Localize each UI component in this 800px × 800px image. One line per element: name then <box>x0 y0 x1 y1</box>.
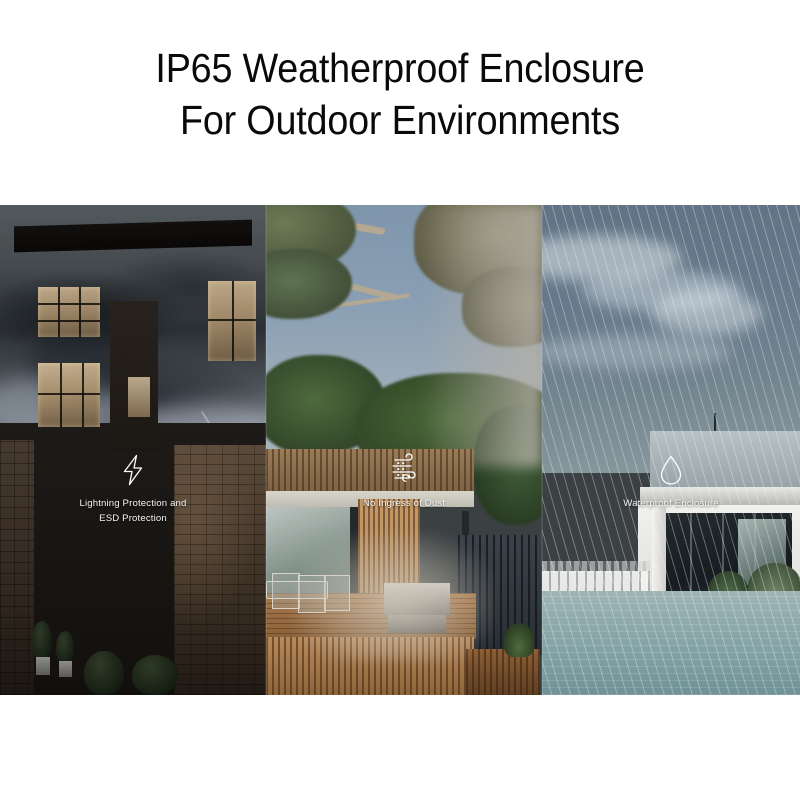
villa-structure <box>542 395 800 695</box>
page-title-line-1: IP65 Weatherproof Enclosure <box>32 42 768 94</box>
roof-parapet <box>650 431 800 489</box>
window-upper-left <box>38 287 100 337</box>
feature-panel-lightning-protection: Lightning Protection and ESD Protection <box>0 205 266 695</box>
stone-wall-left <box>0 440 34 695</box>
shrub <box>132 655 178 695</box>
entry-door <box>110 301 158 451</box>
potted-plant <box>56 631 74 665</box>
feature-panel-strip: Lightning Protection and ESD Protection <box>0 205 800 695</box>
feature-panel-waterproof-enclosure: Waterproof Enclosure <box>542 205 800 695</box>
page-title-line-2: For Outdoor Environments <box>32 94 768 146</box>
scene-rainy-rooftop-villa <box>542 205 800 695</box>
stone-wall-right <box>174 445 266 695</box>
planter-shrub <box>504 623 534 657</box>
feature-panel-dust-ingress: No Ingress of Dust <box>266 205 542 695</box>
potted-plant <box>32 621 52 661</box>
roof-slab <box>640 487 800 505</box>
plant-pot <box>36 657 50 675</box>
product-feature-banner: IP65 Weatherproof Enclosure For Outdoor … <box>0 0 800 800</box>
window-upper-right <box>208 281 256 361</box>
shrub <box>84 651 124 695</box>
timber-slat-balustrade-upper <box>266 449 474 491</box>
window-lower-left <box>38 363 100 427</box>
cloud <box>652 291 762 335</box>
plant-pot <box>59 661 72 677</box>
door-interior-light <box>128 377 150 417</box>
scene-dusty-deck-house <box>266 205 542 695</box>
dust-haze-sky <box>422 205 542 467</box>
page-title: IP65 Weatherproof Enclosure For Outdoor … <box>0 42 800 146</box>
dust-cloud <box>294 531 494 661</box>
pool-ripples <box>542 591 800 695</box>
scene-stormy-house <box>0 205 266 695</box>
